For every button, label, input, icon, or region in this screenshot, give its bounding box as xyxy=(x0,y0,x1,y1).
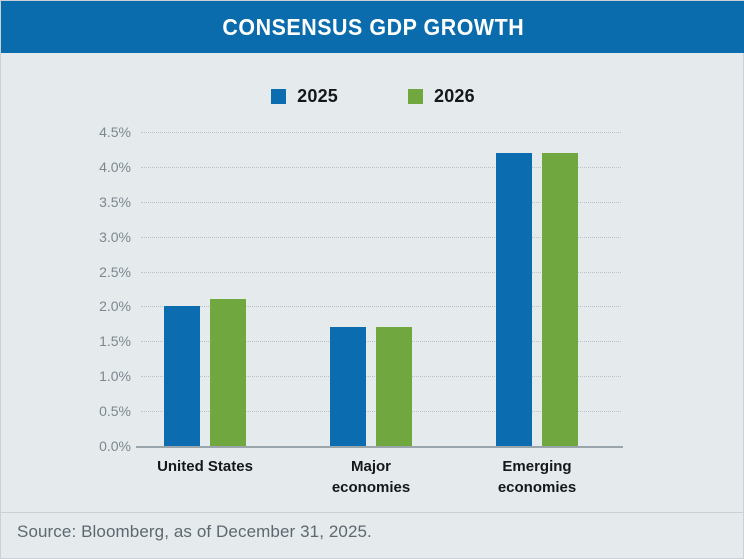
category-label-line: United States xyxy=(120,456,290,477)
bar-2026-major-economies[interactable] xyxy=(376,327,412,446)
legend-label-2026: 2026 xyxy=(434,86,475,107)
y-axis-tick-label: 0.5% xyxy=(69,403,131,419)
y-axis-tick-label: 3.0% xyxy=(69,229,131,245)
bar-2026-emerging-economies[interactable] xyxy=(542,153,578,446)
legend-item-2025[interactable]: 2025 xyxy=(271,86,338,107)
bar-2025-emerging-economies[interactable] xyxy=(496,153,532,446)
x-axis-category-labels: United StatesMajoreconomiesEmergingecono… xyxy=(141,456,621,506)
y-axis-tick-label: 0.0% xyxy=(69,438,131,454)
y-axis-tick-label: 1.5% xyxy=(69,333,131,349)
bar-group-container xyxy=(141,132,621,446)
category-label-line: Emerging xyxy=(452,456,622,477)
category-label-line: economies xyxy=(286,477,456,498)
footer-divider xyxy=(1,512,744,513)
y-axis-tick-label: 2.5% xyxy=(69,264,131,280)
y-axis-tick-label: 3.5% xyxy=(69,194,131,210)
category-label-line: Major xyxy=(286,456,456,477)
page-title: Consensus GDP Growth xyxy=(222,14,524,41)
bar-2025-major-economies[interactable] xyxy=(330,327,366,446)
chart-header: Consensus GDP Growth xyxy=(1,1,744,53)
legend-swatch-2025 xyxy=(271,89,286,104)
plot-area xyxy=(141,132,621,446)
legend-item-2026[interactable]: 2026 xyxy=(408,86,475,107)
bar-2026-united-states[interactable] xyxy=(210,299,246,446)
legend-label-2025: 2025 xyxy=(297,86,338,107)
x-axis-line xyxy=(136,446,623,448)
category-label-line: economies xyxy=(452,477,622,498)
chart-card: Consensus GDP Growth 2025 2026 0.0%0.5%1… xyxy=(0,0,744,559)
source-note: Source: Bloomberg, as of December 31, 20… xyxy=(17,522,372,542)
bar-2025-united-states[interactable] xyxy=(164,306,200,446)
y-axis-tick-label: 1.0% xyxy=(69,368,131,384)
y-axis-tick-label: 4.5% xyxy=(69,124,131,140)
y-axis-tick-label: 2.0% xyxy=(69,298,131,314)
x-axis-category-united-states: United States xyxy=(120,456,290,477)
legend-swatch-2026 xyxy=(408,89,423,104)
chart-legend: 2025 2026 xyxy=(1,83,744,109)
x-axis-category-emerging-economies: Emergingeconomies xyxy=(452,456,622,498)
x-axis-category-major-economies: Majoreconomies xyxy=(286,456,456,498)
y-axis-tick-label: 4.0% xyxy=(69,159,131,175)
